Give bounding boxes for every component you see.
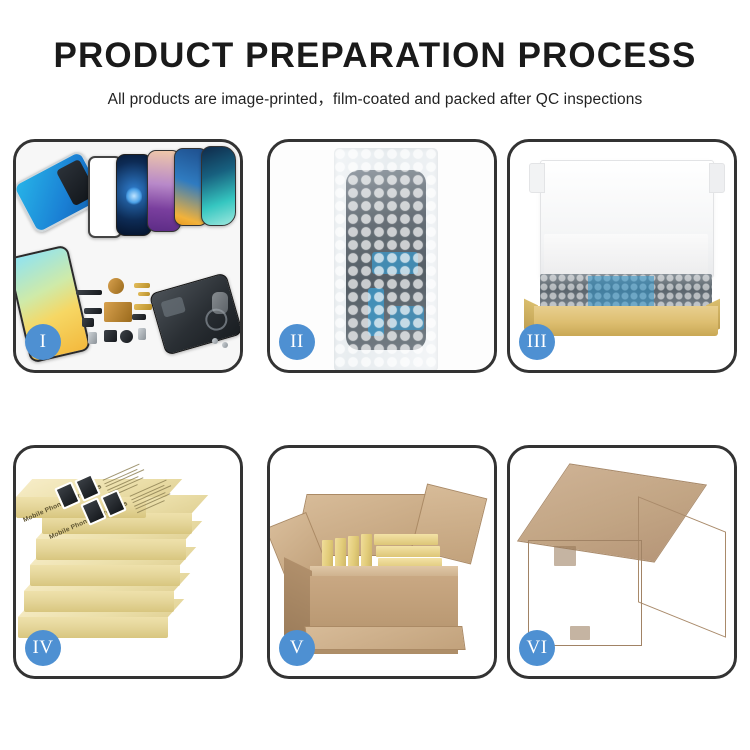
foam-liner	[544, 234, 708, 274]
carton-flap-front	[304, 626, 465, 650]
packed-retail-box	[374, 534, 438, 545]
retail-box	[24, 590, 174, 612]
part-connector-strip	[84, 308, 102, 314]
part-screw-set	[88, 332, 97, 344]
part-speaker-mesh	[76, 290, 102, 295]
retail-box	[30, 564, 180, 586]
part-flex-cable-2	[138, 292, 150, 296]
process-step-panel-3[interactable]: III	[507, 139, 737, 373]
step-badge-6: VI	[519, 630, 555, 666]
step-badge-4: IV	[25, 630, 61, 666]
process-step-panel-4[interactable]: Mobile Phone Spare Parts Mobile Phone Sp…	[13, 445, 243, 679]
part-logic-board	[104, 302, 132, 322]
part-antenna-flex	[134, 304, 152, 310]
bubble-texture	[334, 148, 438, 370]
box-tray-front	[534, 306, 718, 336]
carton-label-patch-bottom	[570, 626, 590, 640]
part-button-set	[138, 328, 146, 340]
step-badge-1: I	[25, 324, 61, 360]
page-header: PRODUCT PREPARATION PROCESS All products…	[0, 0, 750, 109]
wrapped-screens-in-box	[540, 274, 712, 308]
part-vibration-motor	[108, 278, 124, 294]
part-screw-1	[212, 338, 218, 344]
process-step-panel-6[interactable]: VI	[507, 445, 737, 679]
part-tool-tweezers	[212, 292, 228, 314]
step-badge-5: V	[279, 630, 315, 666]
process-step-panel-2[interactable]: II	[267, 139, 497, 373]
part-rear-camera	[120, 330, 133, 343]
packed-retail-box	[376, 546, 440, 557]
carton-label-patch-top	[554, 546, 576, 566]
process-step-panel-1[interactable]: I	[13, 139, 243, 373]
page-subtitle: All products are image-printed，film-coat…	[0, 76, 750, 109]
step-badge-3: III	[519, 324, 555, 360]
phone-screen-teal	[201, 146, 236, 226]
page-title: PRODUCT PREPARATION PROCESS	[0, 0, 750, 76]
part-flex-cable-1	[134, 283, 150, 288]
step-badge-2: II	[279, 324, 315, 360]
part-sim-tray	[132, 314, 146, 320]
retail-box	[36, 538, 186, 560]
part-taptic-engine	[104, 330, 117, 342]
process-step-grid: I II I	[13, 139, 737, 679]
part-camera-module	[82, 318, 94, 327]
bubble-wrap-sheet	[334, 148, 438, 370]
part-screw-2	[222, 342, 228, 348]
process-step-panel-5[interactable]: V	[267, 445, 497, 679]
